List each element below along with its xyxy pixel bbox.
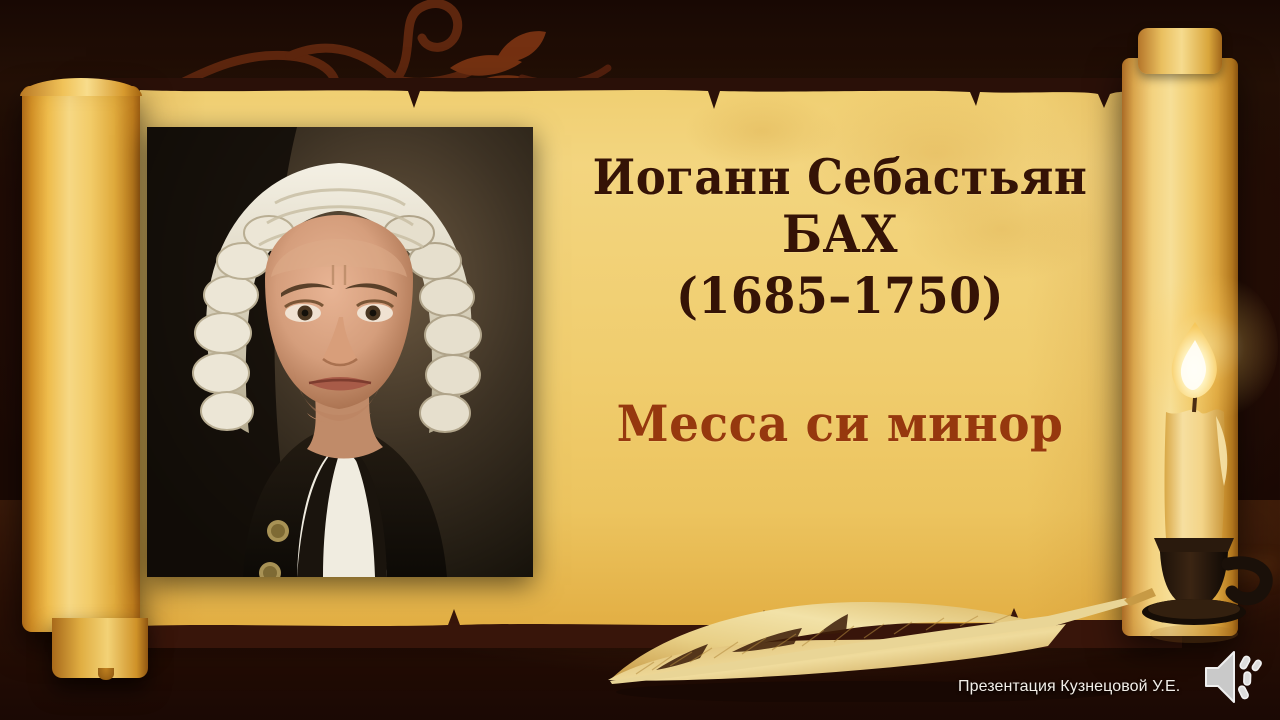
scroll-roll-left-notch bbox=[98, 668, 114, 680]
title-line-name: Иоганн Себастьян bbox=[582, 150, 1097, 205]
presentation-credit: Презентация Кузнецовой У.Е. bbox=[958, 678, 1180, 696]
speaker-icon[interactable] bbox=[1202, 646, 1266, 708]
scroll-roll-left-icon bbox=[22, 86, 140, 632]
scroll-roll-right-cap bbox=[1138, 28, 1222, 74]
bach-portrait bbox=[147, 127, 533, 577]
scroll-roll-left-top-lip bbox=[20, 78, 142, 96]
scroll-roll-left-bottom-lip bbox=[52, 618, 148, 678]
title-line-surname: БАХ bbox=[582, 207, 1097, 264]
candle-icon bbox=[1128, 300, 1278, 660]
title-block: Иоганн Себастьян БАХ (1685–1750) Месса с… bbox=[560, 150, 1120, 451]
subtitle-work-title: Месса си минор bbox=[577, 396, 1103, 451]
presentation-slide: Иоганн Себастьян БАХ (1685–1750) Месса с… bbox=[0, 0, 1280, 720]
title-line-dates: (1685–1750) bbox=[582, 268, 1097, 324]
